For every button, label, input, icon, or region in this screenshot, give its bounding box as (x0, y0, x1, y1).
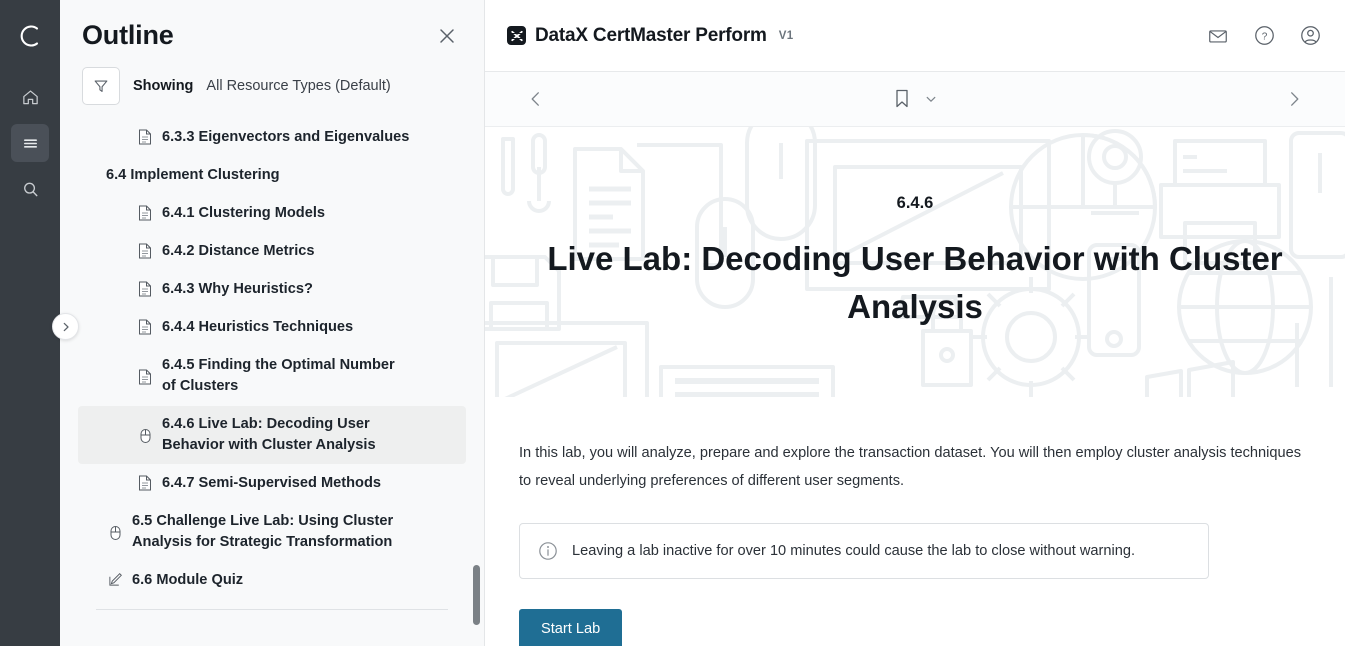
chevron-right-icon[interactable] (1279, 84, 1309, 114)
lesson-navbar (485, 72, 1345, 127)
outline-header: Outline (60, 0, 484, 55)
bookmark-control (551, 87, 1279, 111)
outline-item-label: 6.4.3 Why Heuristics? (162, 279, 313, 300)
brand: DataX CertMaster Perform V1 (507, 25, 793, 47)
lab-warning-note: Leaving a lab inactive for over 10 minut… (519, 523, 1209, 579)
outline-item-6-6[interactable]: 6.6 Module Quiz (78, 562, 466, 599)
filter-value[interactable]: All Resource Types (Default) (206, 78, 390, 94)
help-icon[interactable]: ? (1251, 23, 1277, 49)
outline-list: 6.3.3 Eigenvectors and Eigenvalues 6.4 I… (60, 115, 484, 646)
start-lab-button[interactable]: Start Lab (519, 609, 622, 646)
panel-collapse-handle[interactable] (52, 313, 79, 340)
account-icon[interactable] (1297, 23, 1323, 49)
lesson-banner: 6.4.6 Live Lab: Decoding User Behavior w… (485, 127, 1345, 397)
topbar-actions: ? (1205, 23, 1323, 49)
chevron-down-icon[interactable] (924, 92, 938, 106)
outline-item-6-4-6[interactable]: 6.4.6 Live Lab: Decoding User Behavior w… (78, 406, 466, 464)
left-rail (0, 0, 60, 646)
lesson-body: In this lab, you will analyze, prepare a… (485, 397, 1345, 646)
outline-item-label: 6.4.4 Heuristics Techniques (162, 317, 353, 338)
document-icon (136, 127, 154, 145)
document-icon (136, 203, 154, 221)
bookmark-icon[interactable] (892, 87, 912, 111)
outline-item-label: 6.3.3 Eigenvectors and Eigenvalues (162, 127, 409, 148)
document-icon (136, 279, 154, 297)
c-logo-icon[interactable] (10, 16, 50, 56)
menu-icon[interactable] (11, 124, 49, 162)
lesson-title: Live Lab: Decoding User Behavior with Cl… (535, 235, 1295, 331)
outline-item-label: 6.4 Implement Clustering (106, 165, 280, 186)
filter-row: Showing All Resource Types (Default) (60, 55, 484, 115)
top-bar: DataX CertMaster Perform V1 ? (485, 0, 1345, 72)
home-icon[interactable] (11, 78, 49, 116)
outline-item-6-5[interactable]: 6.5 Challenge Live Lab: Using Cluster An… (78, 503, 466, 561)
mouse-icon (106, 523, 124, 541)
outline-divider (96, 609, 448, 610)
datax-logo-icon (507, 26, 526, 45)
lesson-content: 6.4.6 Live Lab: Decoding User Behavior w… (485, 127, 1345, 646)
outline-item-6-4-1[interactable]: 6.4.1 Clustering Models (78, 195, 466, 232)
filter-showing-label: Showing (133, 78, 193, 94)
info-icon (538, 541, 558, 561)
outline-item-6-4-3[interactable]: 6.4.3 Why Heuristics? (78, 271, 466, 308)
outline-item-6-4[interactable]: 6.4 Implement Clustering (78, 157, 466, 194)
mouse-icon (136, 426, 154, 444)
quiz-icon (106, 570, 124, 587)
outline-item-label: 6.4.6 Live Lab: Decoding User Behavior w… (162, 414, 402, 456)
banner-inner: 6.4.6 Live Lab: Decoding User Behavior w… (505, 194, 1325, 331)
document-icon (136, 473, 154, 491)
app-version: V1 (779, 30, 794, 42)
mail-icon[interactable] (1205, 23, 1231, 49)
document-icon (136, 241, 154, 259)
rail-icon-group (11, 78, 49, 208)
outline-item-label: 6.4.5 Finding the Optimal Number of Clus… (162, 355, 402, 397)
close-icon[interactable] (432, 21, 462, 51)
lesson-intro: In this lab, you will analyze, prepare a… (519, 439, 1309, 495)
outline-item-6-4-4[interactable]: 6.4.4 Heuristics Techniques (78, 309, 466, 346)
svg-text:?: ? (1261, 32, 1267, 43)
outline-item-6-4-2[interactable]: 6.4.2 Distance Metrics (78, 233, 466, 270)
search-icon[interactable] (11, 170, 49, 208)
outline-item-6-4-5[interactable]: 6.4.5 Finding the Optimal Number of Clus… (78, 347, 466, 405)
main-area: DataX CertMaster Perform V1 ? (485, 0, 1345, 646)
outline-item-label: 6.4.7 Semi-Supervised Methods (162, 473, 381, 494)
app-root: Outline Showing All Resource Types (Defa… (0, 0, 1345, 646)
outline-item-label: 6.5 Challenge Live Lab: Using Cluster An… (132, 511, 404, 553)
outline-scrollbar-thumb[interactable] (473, 565, 480, 625)
app-title: DataX CertMaster Perform (535, 25, 767, 47)
outline-item-6-3-3[interactable]: 6.3.3 Eigenvectors and Eigenvalues (78, 119, 466, 156)
filter-icon[interactable] (82, 67, 120, 105)
outline-panel: Outline Showing All Resource Types (Defa… (60, 0, 485, 646)
page-title: Outline (82, 20, 174, 51)
outline-item-label: 6.6 Module Quiz (132, 570, 243, 591)
document-icon (136, 317, 154, 335)
lesson-number: 6.4.6 (535, 194, 1295, 213)
lab-warning-text: Leaving a lab inactive for over 10 minut… (572, 540, 1135, 562)
outline-item-6-4-7[interactable]: 6.4.7 Semi-Supervised Methods (78, 465, 466, 502)
outline-item-label: 6.4.1 Clustering Models (162, 203, 325, 224)
document-icon (136, 367, 154, 385)
outline-item-label: 6.4.2 Distance Metrics (162, 241, 315, 262)
chevron-left-icon[interactable] (521, 84, 551, 114)
